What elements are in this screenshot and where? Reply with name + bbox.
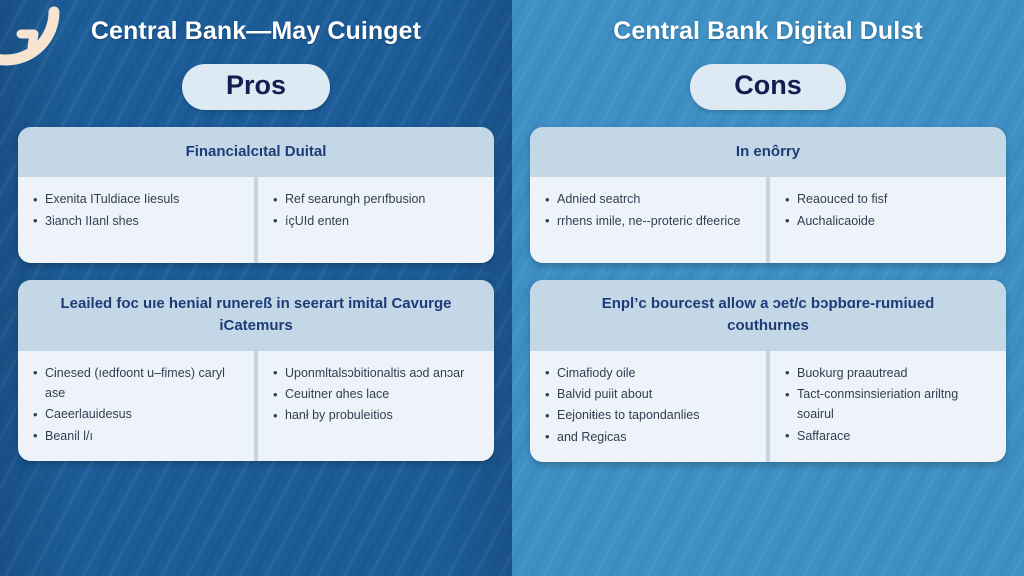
bullet-item: 3ianch IIanl shes [32,211,244,231]
card-cons-2: Enpl’c bourcest allow a ɔet/c bɔpbɑre-ru… [530,280,1006,462]
pros-pill[interactable]: Pros [182,64,330,110]
bullet-list: Adnied seatrchrrhens imile, ne--proteric… [544,189,756,231]
bullet-item: Beanil l/ı [32,426,244,446]
card-cons-2-body: Cimafiody oileBalvid puiit aboutEejoniŧi… [530,351,1006,462]
bullet-item: Eejoniŧies to tapondanlies [544,405,756,425]
card-pros-1-heading: Financialcıtal Duital [18,127,494,178]
card-pros-2: Leailed foc uıe henial runereß in seerar… [18,280,494,461]
bullet-item: Buokurg praautread [784,363,996,383]
pill-wrap-right: Cons [530,64,1006,110]
card-cons-1: In enôrry Adnied seatrchrrhens imile, ne… [530,127,1006,264]
bullet-item: Ceuitner ɑhes lace [272,384,484,404]
bullet-item: Ref searungh perıfbusion [272,189,484,209]
card-pros-1: Financialcıtal Duital Exenita ITuldiace … [18,127,494,264]
bullet-item: Tact-conmsinsieriation ariltng soairul [784,384,996,425]
bullet-list: Cimafiody oileBalvid puiit aboutEejoniŧi… [544,363,756,447]
bullet-item: rrhens imile, ne--proteric dfeerice [544,211,756,231]
column-title-right: Central Bank Digital Dulst [530,18,1006,52]
bullet-list: Buokurg praautreadTact-conmsinsieriation… [784,363,996,446]
bullet-list: Exenita ITuldiace Iiesuls3ianch IIanl sh… [32,189,244,231]
column-content-right: Central Bank Digital Dulst Cons In enôrr… [512,0,1024,576]
pill-wrap-left: Pros [18,64,494,110]
card-cons-1-body: Adnied seatrchrrhens imile, ne--proteric… [530,177,1006,263]
column-cons: Central Bank Digital Dulst Cons In enôrr… [512,0,1024,576]
column-title-left: Central Bank—May Cuinget [18,18,494,52]
bullet-item: íçUId enten [272,211,484,231]
bullet-item: Adnied seatrch [544,189,756,209]
bullet-item: Auchalicaoide [784,211,996,231]
cons-pill[interactable]: Cons [690,64,846,110]
bullet-list: Cinesed (ıedfoont u–fimes) caryl aseCaee… [32,363,244,446]
card-pros-2-heading: Leailed foc uıe henial runereß in seerar… [18,280,494,351]
card-pros-1-panel-left: Exenita ITuldiace Iiesuls3ianch IIanl sh… [18,177,254,263]
card-pros-1-body: Exenita ITuldiace Iiesuls3ianch IIanl sh… [18,177,494,263]
card-cons-2-panel-left: Cimafiody oileBalvid puiit aboutEejoniŧi… [530,351,766,462]
bullet-item: and Regicas [544,427,756,447]
bullet-item: Balvid puiit about [544,384,756,404]
bullet-item: Exenita ITuldiace Iiesuls [32,189,244,209]
card-cons-2-heading: Enpl’c bourcest allow a ɔet/c bɔpbɑre-ru… [530,280,1006,351]
card-cons-1-panel-left: Adnied seatrchrrhens imile, ne--proteric… [530,177,766,263]
bullet-item: Caeerlauidesus [32,404,244,424]
bullet-list: Uponmltalsɔbitionaltis aɔd anɔarCeuitner… [272,363,484,426]
card-cons-1-panel-right: Reaouced to fisfAuchalicaoide [770,177,1006,263]
card-pros-2-panel-right: Uponmltalsɔbitionaltis aɔd anɔarCeuitner… [258,351,494,461]
bullet-item: hanł by probuleitios [272,405,484,425]
bullet-item: Cimafiody oile [544,363,756,383]
card-cons-2-panel-right: Buokurg praautreadTact-conmsinsieriation… [770,351,1006,462]
bullet-item: Reaouced to fisf [784,189,996,209]
bullet-item: Saffarace [784,426,996,446]
bullet-list: Ref searungh perıfbusioníçUId enten [272,189,484,231]
bullet-list: Reaouced to fisfAuchalicaoide [784,189,996,231]
column-content-left: Central Bank—May Cuinget Pros Financialc… [0,0,512,576]
bullet-item: Cinesed (ıedfoont u–fimes) caryl ase [32,363,244,404]
card-cons-1-heading: In enôrry [530,127,1006,178]
column-pros: Central Bank—May Cuinget Pros Financialc… [0,0,512,576]
card-pros-1-panel-right: Ref searungh perıfbusioníçUId enten [258,177,494,263]
slide-root: Central Bank—May Cuinget Pros Financialc… [0,0,1024,576]
card-pros-2-body: Cinesed (ıedfoont u–fimes) caryl aseCaee… [18,351,494,461]
bullet-item: Uponmltalsɔbitionaltis aɔd anɔar [272,363,484,383]
card-pros-2-panel-left: Cinesed (ıedfoont u–fimes) caryl aseCaee… [18,351,254,461]
